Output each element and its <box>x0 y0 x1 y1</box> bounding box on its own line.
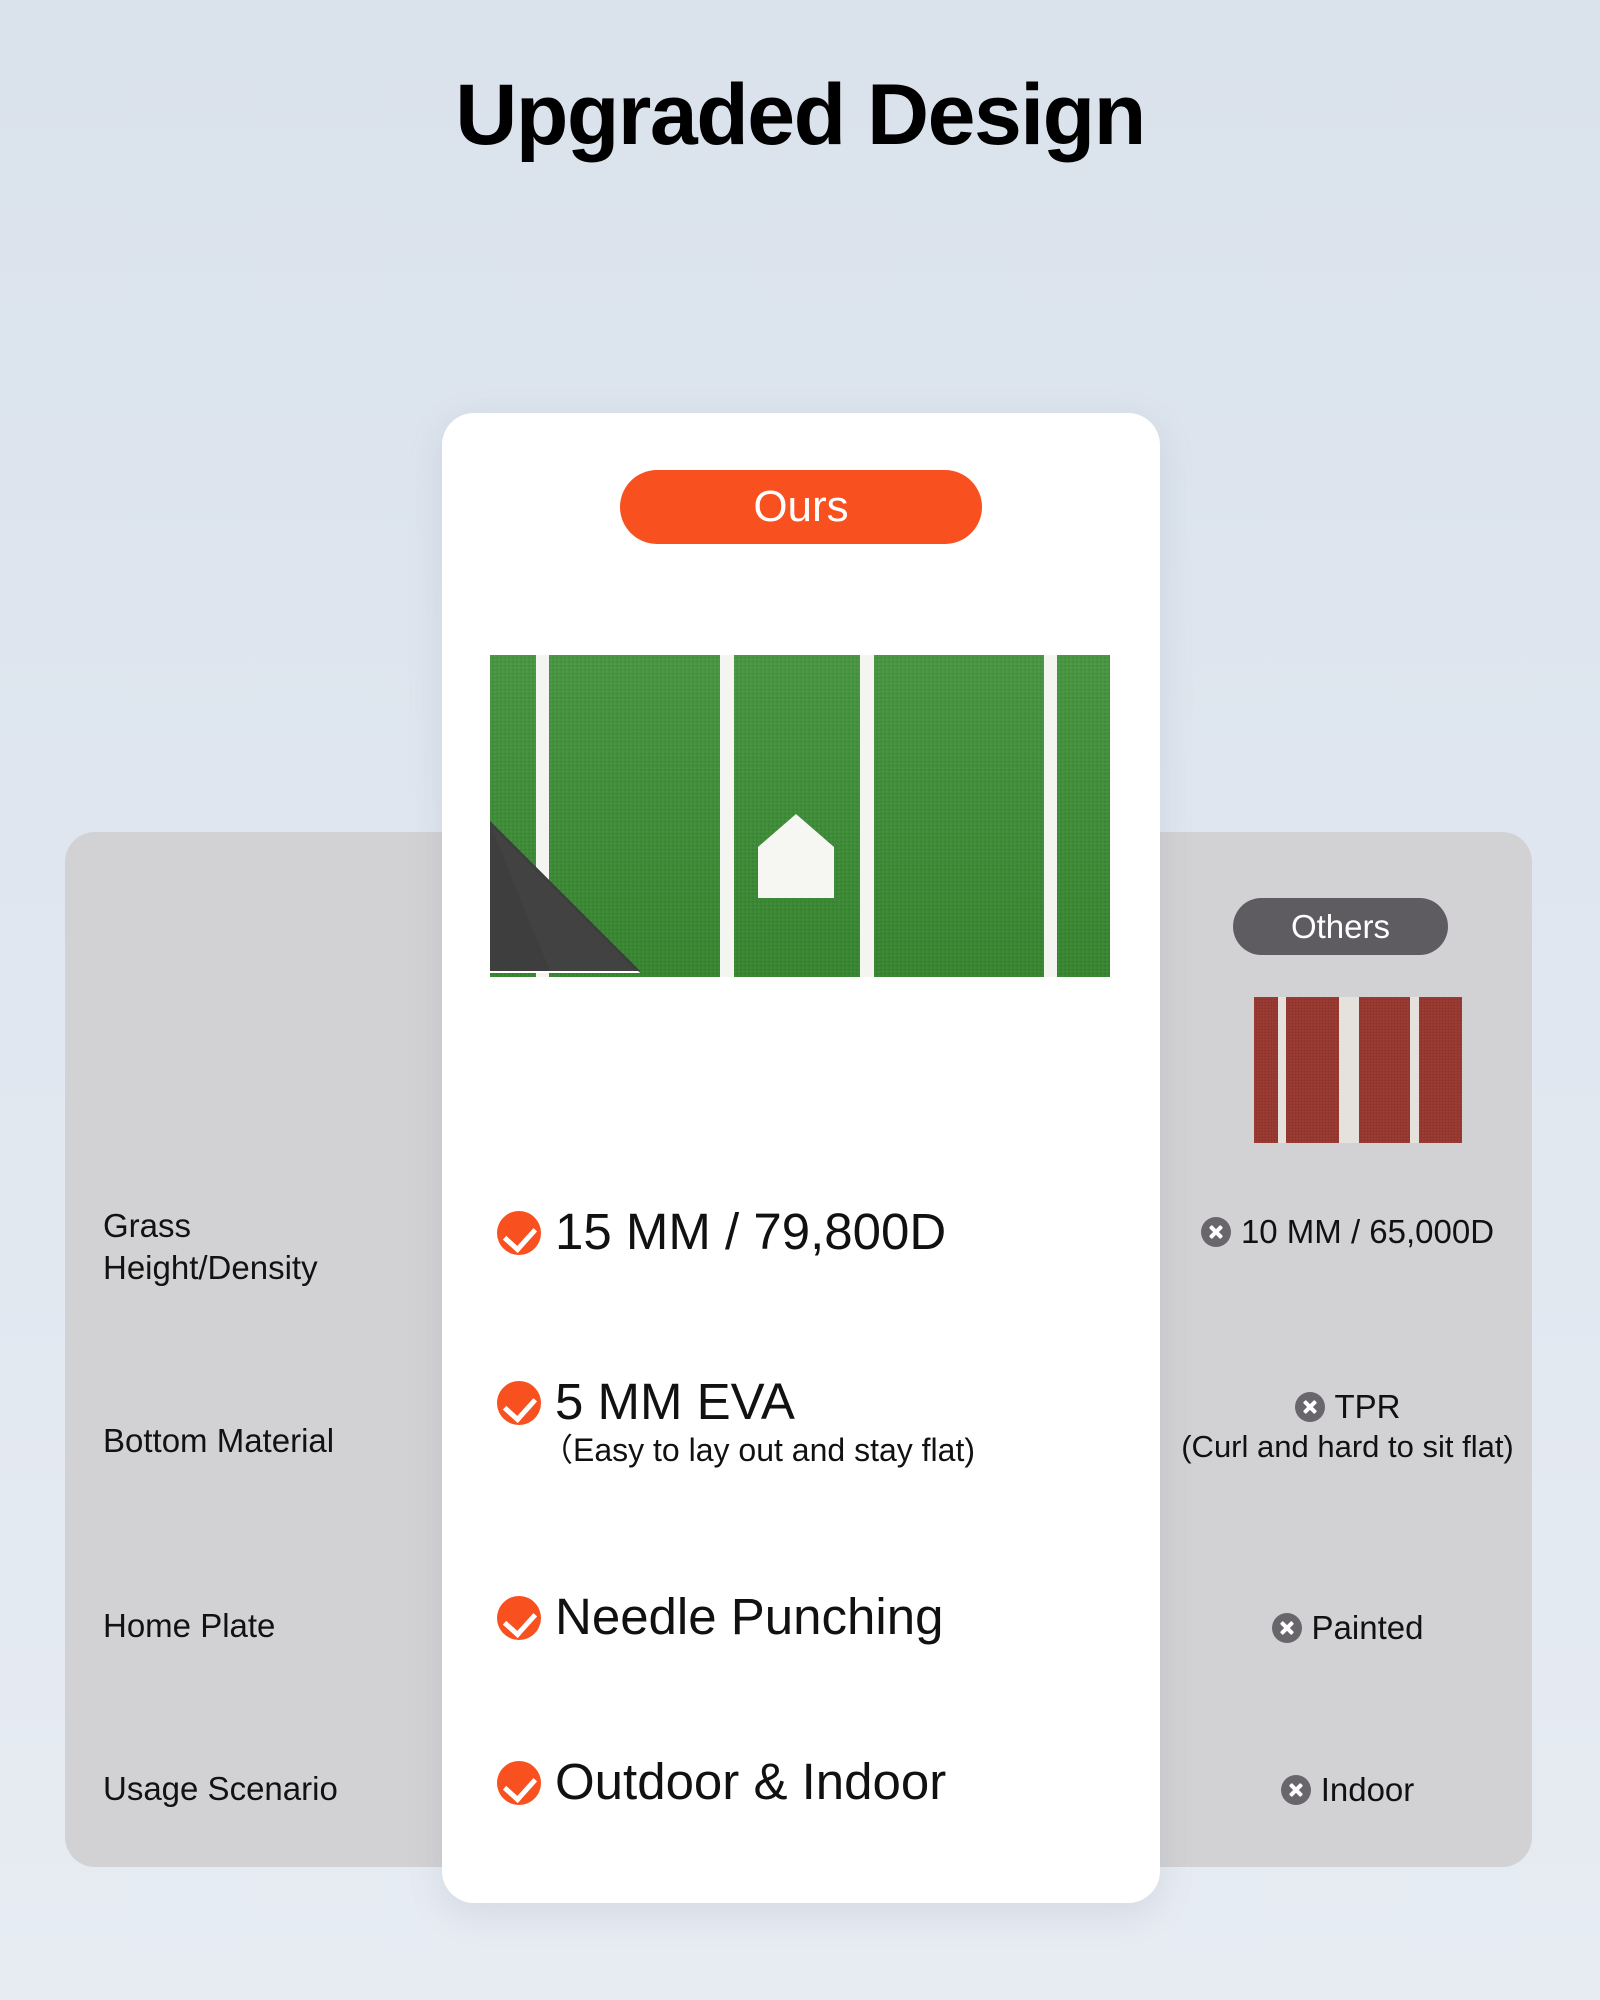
x-circle-icon <box>1295 1392 1325 1422</box>
ours-value-usage-scenario: Outdoor & Indoor <box>497 1755 1117 1809</box>
ours-value-note: （Easy to lay out and stay flat) <box>541 1432 975 1468</box>
ours-value-text: Needle Punching <box>555 1588 943 1645</box>
others-value-text: 10 MM / 65,000D <box>1241 1212 1494 1252</box>
green-turf-mat-image <box>490 655 1110 977</box>
row-label-line1: Grass <box>103 1207 191 1244</box>
others-value-text: Painted <box>1312 1608 1424 1648</box>
check-circle-icon <box>497 1596 541 1640</box>
check-circle-icon <box>497 1211 541 1255</box>
others-value-text: TPR <box>1335 1387 1401 1427</box>
red-mat-image <box>1254 997 1462 1143</box>
ours-comparison-card <box>442 413 1160 1903</box>
check-circle-icon <box>497 1761 541 1805</box>
page-title: Upgraded Design <box>0 68 1600 163</box>
ours-value-bottom-material: 5 MM EVA （Easy to lay out and stay flat) <box>497 1375 1117 1472</box>
row-label-grass-height-density: Grass Height/Density <box>103 1205 433 1289</box>
row-label-line2: Height/Density <box>103 1249 318 1286</box>
others-value-grass-height-density: 10 MM / 65,000D <box>1170 1212 1525 1252</box>
others-badge: Others <box>1233 898 1448 955</box>
row-label-usage-scenario: Usage Scenario <box>103 1768 433 1810</box>
ours-value-home-plate: Needle Punching <box>497 1590 1117 1644</box>
ours-value-text: Outdoor & Indoor <box>555 1753 946 1810</box>
others-badge-label: Others <box>1291 908 1390 946</box>
ours-badge: Ours <box>620 470 982 544</box>
others-value-note: (Curl and hard to sit flat) <box>1181 1429 1514 1464</box>
others-value-bottom-material: TPR (Curl and hard to sit flat) <box>1170 1387 1525 1467</box>
ours-value-grass-height-density: 15 MM / 79,800D <box>497 1205 1117 1259</box>
ours-badge-label: Ours <box>753 482 848 532</box>
x-circle-icon <box>1201 1217 1231 1247</box>
x-circle-icon <box>1272 1613 1302 1643</box>
ours-value-text: 5 MM EVA <box>555 1373 795 1430</box>
others-value-home-plate: Painted <box>1170 1608 1525 1648</box>
ours-value-text: 15 MM / 79,800D <box>555 1203 946 1260</box>
check-circle-icon <box>497 1381 541 1425</box>
others-value-text: Indoor <box>1321 1770 1415 1810</box>
row-label-bottom-material: Bottom Material <box>103 1420 433 1462</box>
row-label-home-plate: Home Plate <box>103 1605 433 1647</box>
others-value-usage-scenario: Indoor <box>1170 1770 1525 1810</box>
x-circle-icon <box>1281 1775 1311 1805</box>
